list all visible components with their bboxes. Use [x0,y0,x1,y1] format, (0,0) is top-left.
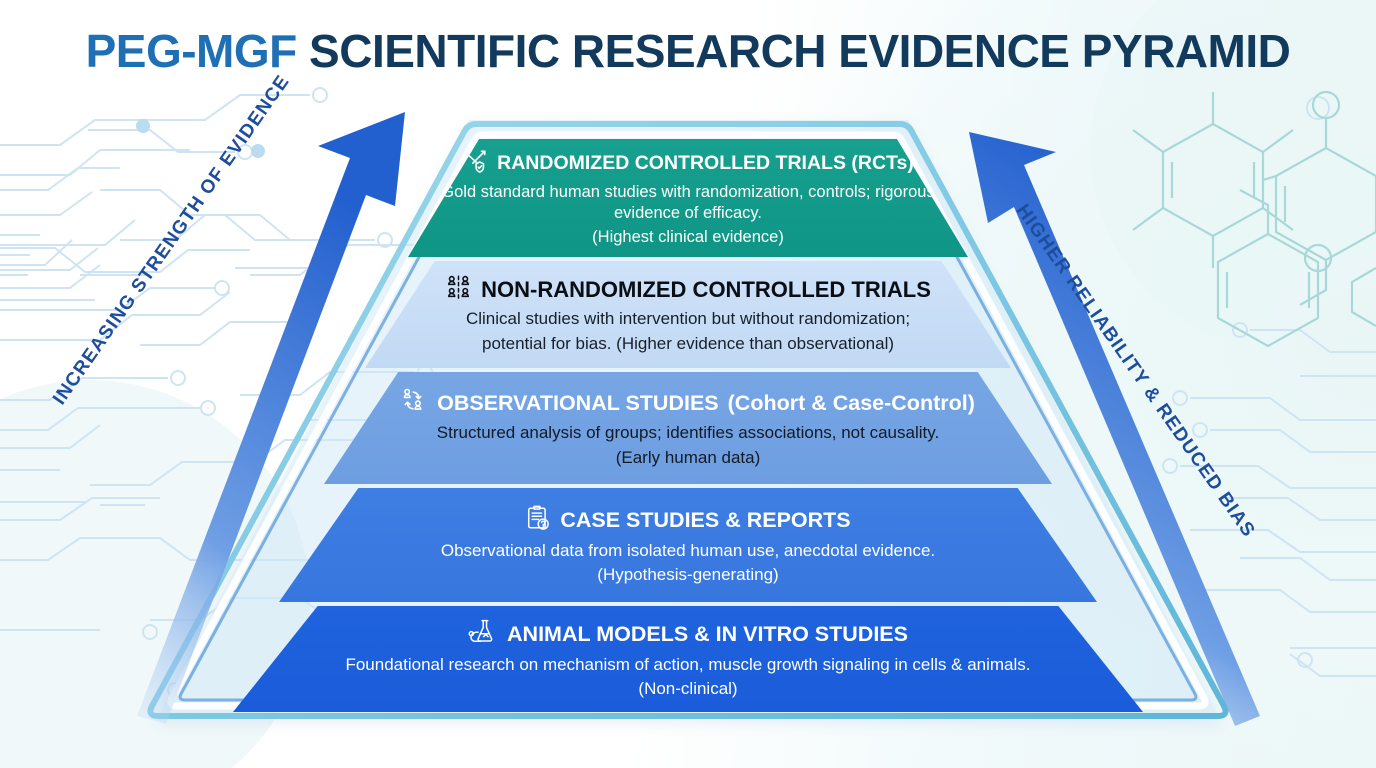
tier-heading: OBSERVATIONAL STUDIES [437,392,719,415]
mouse-flask-icon [468,618,498,651]
tier-note: potential for bias. (Higher evidence tha… [482,333,894,355]
tier-heading: CASE STUDIES & REPORTS [560,509,850,532]
tier-description: Structured analysis of groups; identifie… [437,422,939,444]
tier-heading-paren: (Cohort & Case-Control) [728,392,975,415]
tier-note: (Highest clinical evidence) [592,227,784,248]
tier-note: (Non-clinical) [638,678,737,700]
tier-note: (Hypothesis-generating) [597,564,778,586]
pyramid-tier-non-randomized[interactable]: NON-RANDOMIZED CONTROLLED TRIALS Clinica… [365,261,1011,368]
clipboard-question-icon [525,504,551,537]
tier-description: Gold standard human studies with randomi… [408,182,968,224]
tier-heading-row: NON-RANDOMIZED CONTROLLED TRIALS [445,274,931,305]
tier-note: (Early human data) [616,447,761,469]
infographic-canvas: PEG-MGF SCIENTIFIC RESEARCH EVIDENCE PYR… [0,0,1376,768]
pyramid-tier-case-studies[interactable]: CASE STUDIES & REPORTS Observational dat… [279,488,1097,602]
tier-heading-row: RANDOMIZED CONTROLLED TRIALS (RCTs) [462,148,914,178]
evidence-pyramid: RANDOMIZED CONTROLLED TRIALS (RCTs) Gold… [0,0,1376,768]
people-cohort-arrows-icon [401,387,428,419]
tier-description: Observational data from isolated human u… [441,540,935,562]
two-groups-divider-icon [445,274,472,305]
tier-description: Clinical studies with intervention but w… [466,308,910,330]
tier-heading-row: OBSERVATIONAL STUDIES (Cohort & Case-Con… [401,387,975,419]
tier-heading: ANIMAL MODELS & IN VITRO STUDIES [507,623,908,646]
tier-heading-row: ANIMAL MODELS & IN VITRO STUDIES [468,618,908,651]
tier-heading-row: CASE STUDIES & REPORTS [525,504,850,537]
pyramid-tier-rct[interactable]: RANDOMIZED CONTROLLED TRIALS (RCTs) Gold… [408,139,968,257]
tier-description: Foundational research on mechanism of ac… [345,654,1030,676]
tier-heading: RANDOMIZED CONTROLLED TRIALS (RCTs) [497,153,914,173]
pyramid-tier-observational[interactable]: OBSERVATIONAL STUDIES (Cohort & Case-Con… [324,372,1052,484]
pyramid-tier-animal-invitro[interactable]: ANIMAL MODELS & IN VITRO STUDIES Foundat… [233,606,1143,712]
tier-heading: NON-RANDOMIZED CONTROLLED TRIALS [481,278,931,301]
